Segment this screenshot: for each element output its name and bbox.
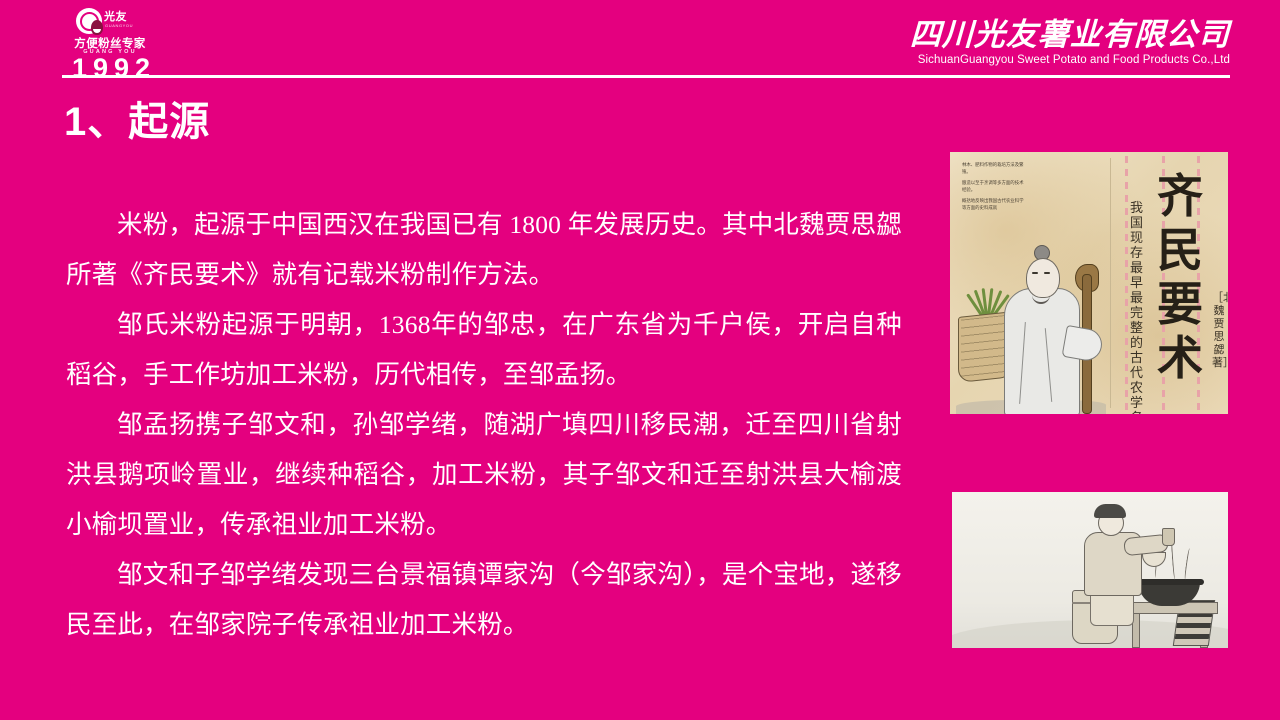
cooking-cup xyxy=(1162,528,1175,546)
slide-root: 光友 GUANGYOU 方便粉丝专家 GUANG YOU 1992 四川光友薯业… xyxy=(0,0,1280,720)
body-paragraph: 邹文和子邹学绪发现三台景福镇谭家沟（今邹家沟），是个宝地，遂移民至此，在邹家院子… xyxy=(66,550,902,650)
book-blurb-line: 概括地反映出我国古代农业科学等方面的史料成就 xyxy=(962,198,1024,211)
book-dashed-line xyxy=(1125,156,1128,410)
company-logo: 光友 GUANGYOU 方便粉丝专家 GUANG YOU 1992 xyxy=(62,6,212,78)
body-paragraph: 邹孟扬携子邹文和，孙邹学绪，随湖广填四川移民潮，迁至四川省射洪县鹅项岭置业，继续… xyxy=(66,400,902,550)
book-blurb-line: 林木、肥料作物的栽培方法及繁殖。 xyxy=(962,162,1024,175)
logo-face-glyph xyxy=(91,20,103,35)
old-man-illustration xyxy=(956,230,1106,412)
book-cover-divider xyxy=(1110,158,1111,408)
body-text-block: 米粉，起源于中国西汉在我国已有 1800 年发展历史。其中北魏贾思勰所著《齐民要… xyxy=(66,200,902,650)
qimin-yaoshu-book-cover-image: 林木、肥料作物的栽培方法及繁殖。 酿造以至于烹调等多方面的技术经验。 概括地反映… xyxy=(950,152,1228,414)
company-name-block: 四川光友薯业有限公司 SichuanGuangyou Sweet Potato … xyxy=(910,18,1230,67)
rice-noodle-cooking-image xyxy=(952,492,1228,648)
cooking-steam xyxy=(1184,548,1191,580)
header-divider-rule xyxy=(62,75,1230,78)
logo-wordmark-pinyin: GUANGYOU xyxy=(105,23,133,28)
slide-header: 光友 GUANGYOU 方便粉丝专家 GUANG YOU 1992 四川光友薯业… xyxy=(0,0,1280,86)
book-blurb-text: 林木、肥料作物的栽培方法及繁殖。 酿造以至于烹调等多方面的技术经验。 概括地反映… xyxy=(962,162,1024,216)
book-blurb-line: 酿造以至于烹调等多方面的技术经验。 xyxy=(962,180,1024,193)
company-name-english: SichuanGuangyou Sweet Potato and Food Pr… xyxy=(910,53,1230,67)
cooking-bowl xyxy=(1142,552,1166,567)
illustration-eye xyxy=(1044,272,1050,274)
guangyou-face-logo-icon: 光友 GUANGYOU xyxy=(76,8,142,34)
body-paragraph: 邹氏米粉起源于明朝，1368年的邹忠，在广东省为千户侯，开启自种稻谷，手工作坊加… xyxy=(66,300,902,400)
cooking-person-cap xyxy=(1094,504,1126,518)
logo-circle-shape xyxy=(76,8,102,34)
page-title: 1、起源 xyxy=(64,96,210,148)
illustration-eye xyxy=(1032,272,1038,274)
company-name-chinese: 四川光友薯业有限公司 xyxy=(909,18,1230,52)
cooking-person-illustration xyxy=(1080,504,1220,646)
book-author-vertical: ［北魏贾思勰 著］ xyxy=(1212,292,1226,370)
illustration-sleeve xyxy=(1062,325,1105,363)
body-paragraph: 米粉，起源于中国西汉在我国已有 1800 年发展历史。其中北魏贾思勰所著《齐民要… xyxy=(66,200,902,300)
illustration-beard xyxy=(1032,286,1050,304)
book-title-vertical: 齐民要术 xyxy=(1150,170,1210,386)
book-subtitle-vertical: 我国现存最早最完整的古代农学名著 xyxy=(1130,200,1148,414)
logo-circle-inner-ring xyxy=(80,12,99,31)
logo-wordmark: 光友 xyxy=(104,11,127,23)
cooking-wok-rim xyxy=(1134,579,1204,585)
